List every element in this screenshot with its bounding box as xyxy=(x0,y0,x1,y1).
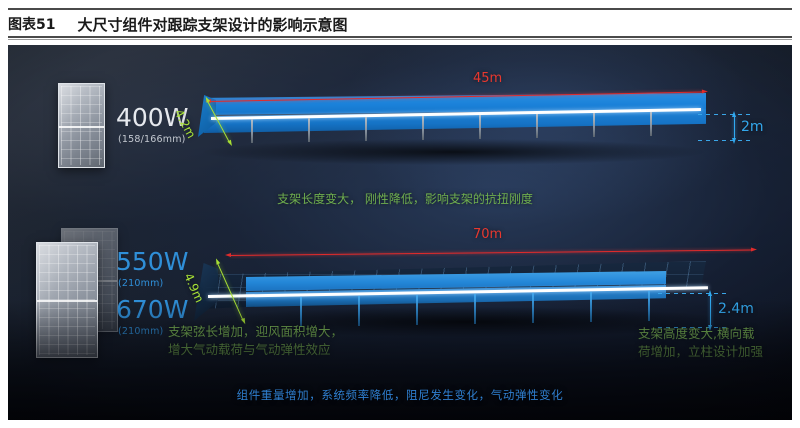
dimension-guide-top-2m xyxy=(698,114,750,115)
tracker-post xyxy=(308,118,310,142)
dimension-guide-bottom-2m xyxy=(698,140,750,141)
tracker-post xyxy=(422,116,424,140)
tracker-post xyxy=(593,113,595,137)
tracker-post xyxy=(648,291,650,321)
figure-title: 大尺寸组件对跟踪支架设计的影响示意图 xyxy=(77,14,347,35)
arrow-left-icon xyxy=(225,253,231,257)
tracker-post xyxy=(474,294,476,324)
dimension-label-70m: 70m xyxy=(473,227,502,242)
header-rule-bottom xyxy=(8,36,792,38)
tracker-post xyxy=(479,115,481,139)
figure-header: 图表51 大尺寸组件对跟踪支架设计的影响示意图 xyxy=(0,0,800,40)
tracker-post xyxy=(416,295,418,325)
arrow-left-icon xyxy=(214,258,220,265)
dimension-label-45m: 45m xyxy=(473,71,502,86)
tracker-post xyxy=(358,296,360,326)
annotation-bottom-right-height: 支架高度变大,横向载 荷增加，立柱设计加强 xyxy=(638,325,792,361)
header-row: 图表51 大尺寸组件对跟踪支架设计的影响示意图 xyxy=(8,12,348,36)
dimension-guide-top-2_4m xyxy=(658,293,726,294)
figure-number: 图表51 xyxy=(8,14,55,34)
tracker-ground-shadow xyxy=(204,139,704,165)
arrow-right-icon xyxy=(702,89,708,93)
tracker-row-short: 45m 4.2m 2m xyxy=(8,45,792,205)
dimension-line-length-70m xyxy=(230,250,752,256)
header-rule-top xyxy=(8,8,792,10)
annotation-middle-stiffness: 支架长度变大， 刚性降低，影响支架的抗扭刚度 xyxy=(170,191,640,208)
arrow-right-icon xyxy=(751,247,757,251)
dimension-line-height-2m xyxy=(734,116,735,139)
figure-canvas: 400W (158/166mm) 550W (210mm) 670W (210m… xyxy=(8,45,792,420)
header-rule-bottom-thin xyxy=(8,39,792,40)
dimension-label-4_2m: 4.2m xyxy=(172,107,199,141)
annotation-bottom-left-chord: 支架弦长增加，迎风面积增大， 增大气动载荷与气动弹性效应 xyxy=(168,323,398,359)
arrow-down-icon xyxy=(732,138,736,144)
arrow-up-icon xyxy=(708,290,712,296)
annotation-footer-weight: 组件重量增加，系统频率降低，阻尼发生变化，气动弹性变化 xyxy=(8,387,792,404)
tracker-post xyxy=(365,117,367,141)
figure-page: 图表51 大尺寸组件对跟踪支架设计的影响示意图 400W (158/166mm)… xyxy=(0,0,800,428)
dimension-label-2_4m: 2.4m xyxy=(718,301,754,317)
tracker-post xyxy=(650,112,652,136)
tracker-post xyxy=(532,293,534,323)
arrow-up-icon xyxy=(732,111,736,117)
dimension-line-height-2_4m xyxy=(710,295,711,326)
dimension-label-2m: 2m xyxy=(741,119,764,135)
tracker-post xyxy=(590,292,592,322)
tracker-post xyxy=(536,114,538,138)
tracker-post xyxy=(251,119,253,143)
